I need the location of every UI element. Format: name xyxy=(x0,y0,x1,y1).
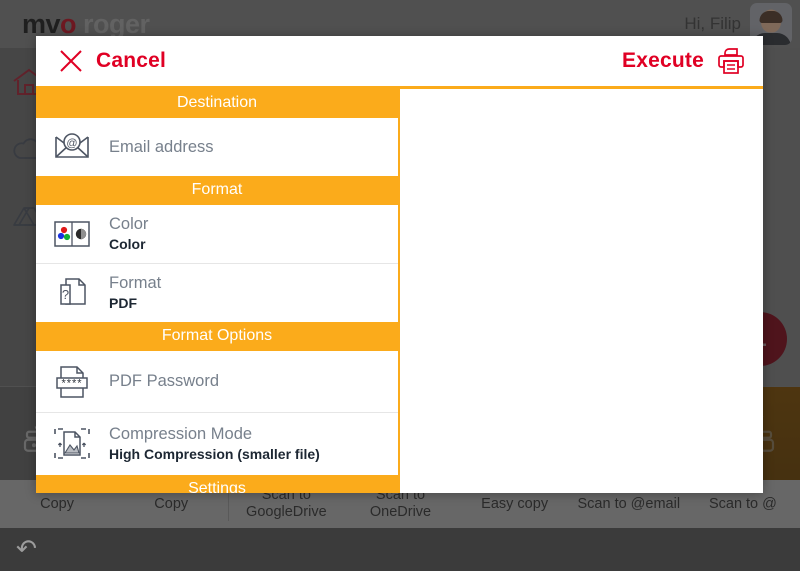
row-pdf-password[interactable]: **** PDF Password xyxy=(36,351,398,413)
row-label: Color xyxy=(109,215,148,234)
svg-text:?: ? xyxy=(62,287,69,302)
row-value: Color xyxy=(109,236,148,253)
section-rows-format-options: **** PDF Password xyxy=(36,351,398,475)
row-label: Format xyxy=(109,274,161,293)
printer-icon xyxy=(716,46,746,76)
row-text: Format PDF xyxy=(109,274,161,312)
dialog-header: Cancel Execute xyxy=(36,36,763,89)
svg-text:@: @ xyxy=(66,138,77,150)
section-header-destination: Destination xyxy=(36,89,398,118)
pdf-password-icon: **** xyxy=(52,362,92,402)
row-label: Compression Mode xyxy=(109,425,320,444)
row-label: Email address xyxy=(109,138,214,157)
section-header-format: Format xyxy=(36,176,398,205)
row-label: PDF Password xyxy=(109,372,219,391)
execute-label: Execute xyxy=(622,49,704,73)
cancel-label: Cancel xyxy=(96,49,166,73)
row-email-address[interactable]: @ Email address xyxy=(36,118,398,176)
row-text: Email address xyxy=(109,138,214,157)
email-envelope-icon: @ xyxy=(52,127,92,167)
svg-text:****: **** xyxy=(61,377,82,389)
row-text: Color Color xyxy=(109,215,148,253)
scan-settings-dialog: Cancel Execute Destination xyxy=(36,36,763,493)
row-value: High Compression (smaller file) xyxy=(109,446,320,463)
dialog-body: Destination @ xyxy=(36,89,763,493)
row-format[interactable]: ? Format PDF xyxy=(36,264,398,322)
row-text: PDF Password xyxy=(109,372,219,391)
file-format-icon: ? xyxy=(52,273,92,313)
close-icon xyxy=(58,48,84,74)
screen: mvoroger Hi, Filip xyxy=(0,0,800,571)
section-rows-format: Color Color ? xyxy=(36,205,398,322)
preview-pane xyxy=(400,89,763,493)
section-header-format-options: Format Options xyxy=(36,322,398,351)
row-value: PDF xyxy=(109,295,161,312)
row-color[interactable]: Color Color xyxy=(36,205,398,264)
settings-list: Destination @ xyxy=(36,89,400,493)
color-mode-icon xyxy=(52,214,92,254)
section-rows-destination: @ Email address xyxy=(36,118,398,176)
row-text: Compression Mode High Compression (small… xyxy=(109,425,320,463)
execute-button[interactable]: Execute xyxy=(622,46,746,76)
compression-icon xyxy=(52,424,92,464)
row-compression-mode[interactable]: Compression Mode High Compression (small… xyxy=(36,413,398,475)
section-header-settings[interactable]: Settings xyxy=(36,475,398,493)
cancel-button[interactable]: Cancel xyxy=(58,48,166,74)
